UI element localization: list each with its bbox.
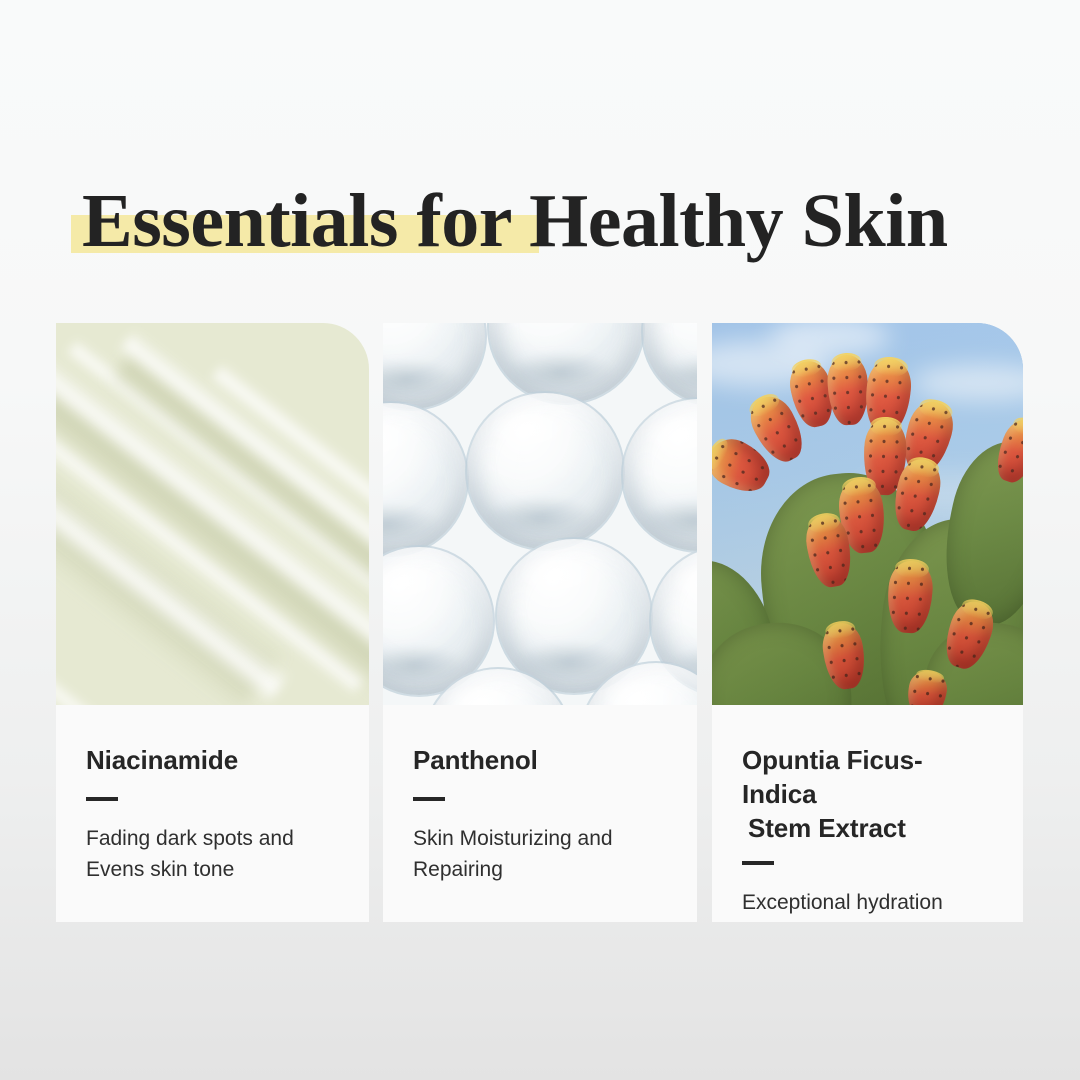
ingredient-name: Opuntia Ficus-Indica Stem Extract xyxy=(742,743,997,845)
ingredient-divider-rule xyxy=(742,861,774,865)
ingredient-description-line-1: Fading dark spots and xyxy=(86,823,343,854)
ingredient-card[interactable]: Niacinamide Fading dark spots and Evens … xyxy=(56,323,369,922)
ingredient-description-line-2: Repairing xyxy=(413,854,671,885)
ingredient-description: Skin Moisturizing and Repairing xyxy=(413,823,671,885)
page-title: Essentials for Healthy Skin xyxy=(82,176,1022,266)
ingredient-card[interactable]: Opuntia Ficus-Indica Stem Extract Except… xyxy=(712,323,1023,922)
gel-spheres-icon xyxy=(383,323,697,705)
ingredient-card[interactable]: Panthenol Skin Moisturizing and Repairin… xyxy=(383,323,697,922)
ingredient-name: Niacinamide xyxy=(86,743,343,777)
ingredient-name-line-1: Panthenol xyxy=(413,745,538,775)
ingredient-description: Fading dark spots and Evens skin tone xyxy=(86,823,343,885)
ingredient-text-panel: Opuntia Ficus-Indica Stem Extract Except… xyxy=(712,705,1023,922)
ingredient-text-panel: Panthenol Skin Moisturizing and Repairin… xyxy=(383,705,697,922)
page-title-highlighted-text: Essentials for xyxy=(82,179,511,263)
ingredient-divider-rule xyxy=(413,797,445,801)
ingredient-description: Exceptional hydration xyxy=(742,887,997,918)
ingredient-image-niacinamide xyxy=(56,323,369,705)
ingredient-name-line-1: Niacinamide xyxy=(86,745,238,775)
ingredient-name-line-1: Opuntia Ficus-Indica xyxy=(742,745,923,809)
ingredient-divider-rule xyxy=(86,797,118,801)
ingredient-card-row: Niacinamide Fading dark spots and Evens … xyxy=(0,323,1080,923)
ingredient-image-panthenol xyxy=(383,323,697,705)
ingredient-description-line-1: Exceptional hydration xyxy=(742,887,997,918)
cream-texture-icon xyxy=(56,323,369,705)
ingredient-name: Panthenol xyxy=(413,743,671,777)
ingredient-name-line-2: Stem Extract xyxy=(742,811,997,845)
ingredient-description-line-2: Evens skin tone xyxy=(86,854,343,885)
page-title-container: Essentials for Healthy Skin xyxy=(82,176,1022,276)
prickly-pear-cactus-icon xyxy=(712,323,1023,705)
ingredient-image-opuntia xyxy=(712,323,1023,705)
page-title-rest-text: Healthy Skin xyxy=(511,179,948,263)
ingredient-text-panel: Niacinamide Fading dark spots and Evens … xyxy=(56,705,369,922)
ingredient-description-line-1: Skin Moisturizing and xyxy=(413,823,671,854)
